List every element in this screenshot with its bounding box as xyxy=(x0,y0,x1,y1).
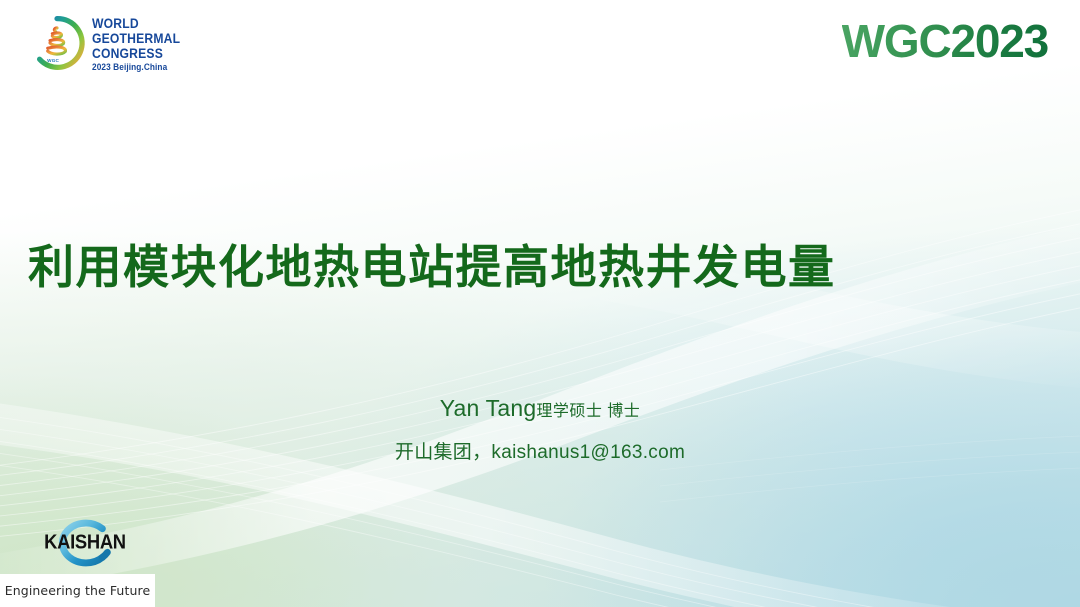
kaishan-tagline: Engineering the Future xyxy=(5,583,150,598)
author-degrees: 理学硕士 博士 xyxy=(536,403,640,420)
page-title: 利用模块化地热电站提高地热井发电量 xyxy=(28,239,1048,295)
wgc-circular-emblem-icon: WGC xyxy=(28,14,86,72)
wgc-line-geothermal: GEOTHERMAL xyxy=(92,32,180,46)
wgc-line-location: 2023 Beijing.China xyxy=(92,63,182,72)
svg-text:KAISHAN: KAISHAN xyxy=(44,532,126,554)
wgc-wordmark-text: WORLD GEOTHERMAL CONGRESS 2023 Beijing.C… xyxy=(92,15,190,72)
title-slide: WGC WORLD GEOTHERMAL CONGRESS 2023 Beiji… xyxy=(0,0,1080,607)
wgc-line-world: WORLD xyxy=(92,17,180,31)
kaishan-ring-emblem-icon: KAISHAN xyxy=(22,515,148,571)
author-block: Yan Tang理学硕士 博士 开山集团，kaishanus1@163.com xyxy=(0,392,1080,464)
wgc-line-congress: CONGRESS xyxy=(92,47,180,61)
kaishan-company-logo: KAISHAN xyxy=(22,515,148,571)
svg-text:WGC: WGC xyxy=(47,58,59,63)
author-line: Yan Tang理学硕士 博士 xyxy=(0,392,1080,425)
kaishan-tagline-band: Engineering the Future xyxy=(0,574,155,607)
event-wordmark: WGC2023 xyxy=(842,18,1048,64)
author-name: Yan Tang xyxy=(440,395,537,421)
author-affiliation-email: 开山集团，kaishanus1@163.com xyxy=(0,437,1080,464)
wgc-congress-logo: WGC WORLD GEOTHERMAL CONGRESS 2023 Beiji… xyxy=(28,14,190,72)
